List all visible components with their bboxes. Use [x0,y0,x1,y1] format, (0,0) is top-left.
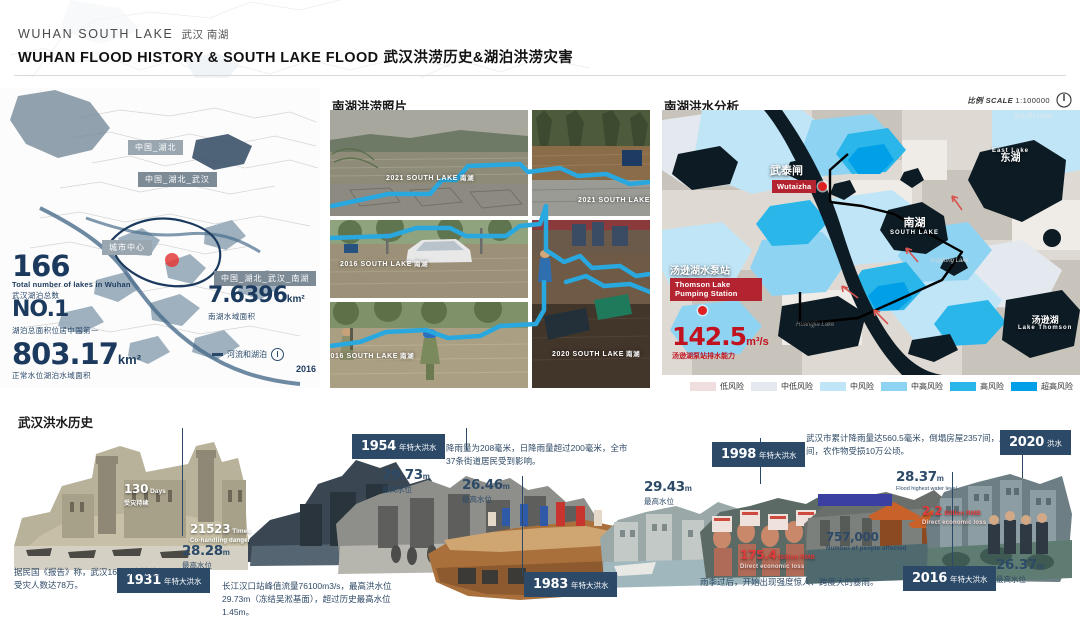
legend-text-midhigh: 中高风险 [911,381,943,392]
legend-swatch-high [950,382,976,391]
photo-label-4: 2016 SOUTH LAKE南湖 [330,350,414,360]
flood-history-timeline: 1931年特大洪水 28.28m 最高水位 据民国《报告》称，武汉16.3万户被… [0,428,1080,630]
left-map-legend: 河流和湖泊 [212,348,284,361]
header-subtitle-cn: 武汉 南湖 [181,29,228,41]
pin-label-cn-wutaizha: 武泰闸 [770,162,803,178]
stat-lake-count-en: Total number of lakes in Wuhan [12,280,131,289]
stat-lake-count: 166 Total number of lakes in Wuhan 武汉湖泊总… [12,252,131,301]
photo-2016-wading[interactable]: 2016 SOUTH LAKE南湖 [330,302,528,388]
stat-southlake-unit: km² [287,294,305,305]
stat-southlake-value: 7.6396 [208,283,287,308]
photo-label-1: 2021 SOUTH LAKE南湖 [386,172,474,182]
timeline-level-1983: 26.46m 最高水位 [462,476,510,505]
location-map-panel: 中国_湖北 中国_湖北_武汉 中国_湖北_武汉_南湖 城市中心 166 Tota… [0,88,320,388]
pin-label-en-thomson[interactable]: Thomson Lake Pumping Station [670,278,762,301]
legend-swatch-midlow [751,382,777,391]
stat-lake-area-unit: km² [118,352,141,367]
photos-panel: 2021 SOUTH LAKE南湖 2021 SOUTH LAKE南湖 [330,110,650,388]
legend-item-midhigh[interactable]: 中高风险 [881,381,943,392]
page-title: WUHAN FLOOD HISTORY & SOUTH LAKE FLOOD武汉… [18,46,573,67]
pump-capacity-stat: 142.5m³/s 汤逊湖泵站排水能力 [672,325,769,361]
south-lake-marker [165,253,179,267]
legend-item-low[interactable]: 低风险 [690,381,744,392]
timeline-badge-2020[interactable]: 2020洪水 [1000,430,1071,455]
legend-item-superhigh[interactable]: 超高风险 [1011,381,1073,392]
stat-lake-area-value-row: 803.17km² [12,340,141,369]
left-map-year: 2016 [296,364,316,374]
header-divider [14,75,1066,76]
timeline-overlay-175billion: 175.4Billion RMB Direct economic loss [740,546,815,570]
timeline-level-1954: 29.73m 最高水位 [382,466,430,495]
stat-lake-area: 803.17km² 正常水位湖泊水域面积 [12,340,141,381]
stat-southlake-cn: 南湖水域面积 [208,311,305,322]
header-subtitle-en: WUHAN SOUTH LAKE [18,27,173,41]
map-scale: 比例 SCALE 1:100000 [967,95,1050,106]
legend-swatch-river [212,353,223,356]
pin-label-en-wutaizha[interactable]: Wutaizha [772,180,816,193]
timeline-level-2016: 28.37m Flood highest water level [896,468,957,492]
legend-text-mid: 中风险 [850,381,874,392]
legend-text-high: 高风险 [980,381,1004,392]
photo-2021-street[interactable]: 2021 SOUTH LAKE南湖 [532,110,650,216]
legend-item-high[interactable]: 高风险 [950,381,1004,392]
stat-rank-cn: 湖泊总面积位居中国第一 [12,325,99,336]
stat-rank: NO.1 湖泊总面积位居中国第一 [12,296,99,336]
pin-dot-wutaizha[interactable] [818,182,827,191]
map-tag-hubei: 中国_湖北 [128,140,183,155]
map-label-southlake-corner: SOUTH LAKE [1014,114,1052,120]
map-label-huangjia-lake: Huangjia Lake [796,322,834,328]
timeline-badge-1983[interactable]: 1983年特大洪水 [524,572,617,597]
timeline-badge-1954[interactable]: 1954年特大洪水 [352,434,445,459]
map-scale-value: 1:100000 [1016,96,1050,105]
timeline-note-1983: 降雨量为208毫米，日降雨量超过200毫米，全市37条街道居民受到影响。 [446,442,636,468]
photo-label-2: 2021 SOUTH LAKE南湖 [578,194,650,204]
stat-southlake-value-row: 7.6396km² [208,282,305,310]
timeline-note-1998: 雨季过后，开始出现强度惊人、跨度大的暴雨。 [700,576,900,589]
timeline-level-1998: 29.43m 最高水位 [644,478,692,507]
stat-southlake-area: 7.6396km² 南湖水域面积 [208,282,305,322]
map-scale-en: SCALE [986,96,1013,105]
header-title-cn: 武汉洪涝历史&湖泊洪涝灾害 [384,50,574,66]
map-label-south-lake: 南湖SOUTH LAKE [890,218,939,236]
photo-2016-car[interactable]: 2016 SOUTH LAKE南湖 [330,220,528,298]
timeline-level-1931: 28.28m 最高水位 [182,542,230,571]
pin-dot-thomson[interactable] [698,306,707,315]
photo-label-5: 2020 SOUTH LAKE南湖 [552,348,640,358]
flood-risk-map[interactable]: 武泰闸 Wutaizha 汤逊湖水泵站 Thomson Lake Pumping… [662,110,1080,375]
timeline-note-1931: 据民国《报告》称，武汉16.3万户被淹，受灾人数达78万。 [14,566,174,592]
compass-icon [271,348,284,361]
stat-lake-area-value: 803.17 [12,337,118,371]
map-label-thomson-lake: 汤逊湖Lake Thomson [1018,316,1072,332]
stat-lake-area-cn: 正常水位湖泊水域面积 [12,370,141,381]
legend-label-river: 河流和湖泊 [227,349,267,360]
map-label-angdong-lake: Angdong Lake [930,258,969,264]
timeline-overlay-130days: 130Days 受灾持续 [124,480,166,507]
legend-text-midlow: 中低风险 [781,381,813,392]
map-scale-cn: 比例 [967,96,983,105]
legend-item-mid[interactable]: 中风险 [820,381,874,392]
stat-rank-value: NO.1 [12,296,99,324]
legend-swatch-low [690,382,716,391]
pump-capacity-row: 142.5m³/s [672,325,769,350]
timeline-badge-2016[interactable]: 2016年特大洪水 [903,566,996,591]
pump-capacity-unit: m³/s [746,336,769,348]
legend-item-midlow[interactable]: 中低风险 [751,381,813,392]
legend-swatch-mid [820,382,846,391]
stat-lake-count-value: 166 [12,252,131,280]
timeline-overlay-21523: 21523Times Co-handling danger [190,520,251,544]
map-label-east-lake: East Lake东湖 [992,148,1029,165]
pump-capacity-value: 142.5 [672,322,746,351]
pump-capacity-cn: 汤逊湖泵站排水能力 [672,351,769,361]
photo-label-3: 2016 SOUTH LAKE南湖 [340,258,428,268]
photo-2021-lakeside[interactable]: 2021 SOUTH LAKE南湖 [330,110,528,216]
header-title-en: WUHAN FLOOD HISTORY & SOUTH LAKE FLOOD [18,50,379,66]
header-subtitle: WUHAN SOUTH LAKE武汉 南湖 [18,27,229,42]
timeline-overlay-22billion: 2.2Billion RMB Direct economic loss [922,502,986,526]
map-tag-wuhan: 中国_湖北_武汉 [138,172,217,187]
poster-root: WUHAN SOUTH LAKE武汉 南湖 WUHAN FLOOD HISTOR… [0,0,1080,630]
legend-text-superhigh: 超高风险 [1041,381,1073,392]
poster-header: WUHAN SOUTH LAKE武汉 南湖 WUHAN FLOOD HISTOR… [0,0,1080,78]
pin-label-cn-thomson: 汤逊湖水泵站 [670,262,730,277]
legend-text-low: 低风险 [720,381,744,392]
legend-swatch-midhigh [881,382,907,391]
legend-swatch-superhigh [1011,382,1037,391]
timeline-level-2020: 26.37m 最高水位 [996,556,1044,585]
timeline-overlay-757000: 757,000 Number of people affected [826,528,907,552]
timeline-note-1954: 长江汉口站峰值流量76100m3/s，最高洪水位29.73m（冻结吴淞基面），超… [222,580,408,618]
timeline-tick-1931 [182,428,183,536]
photo-2020-market[interactable]: 2020 SOUTH LAKE南湖 [532,220,650,388]
risk-legend: 低风险 中低风险 中风险 中高风险 高风险 超高风险 [690,381,1080,392]
timeline-badge-1998[interactable]: 1998年特大洪水 [712,442,805,467]
timeline-tick-1983 [522,476,523,576]
